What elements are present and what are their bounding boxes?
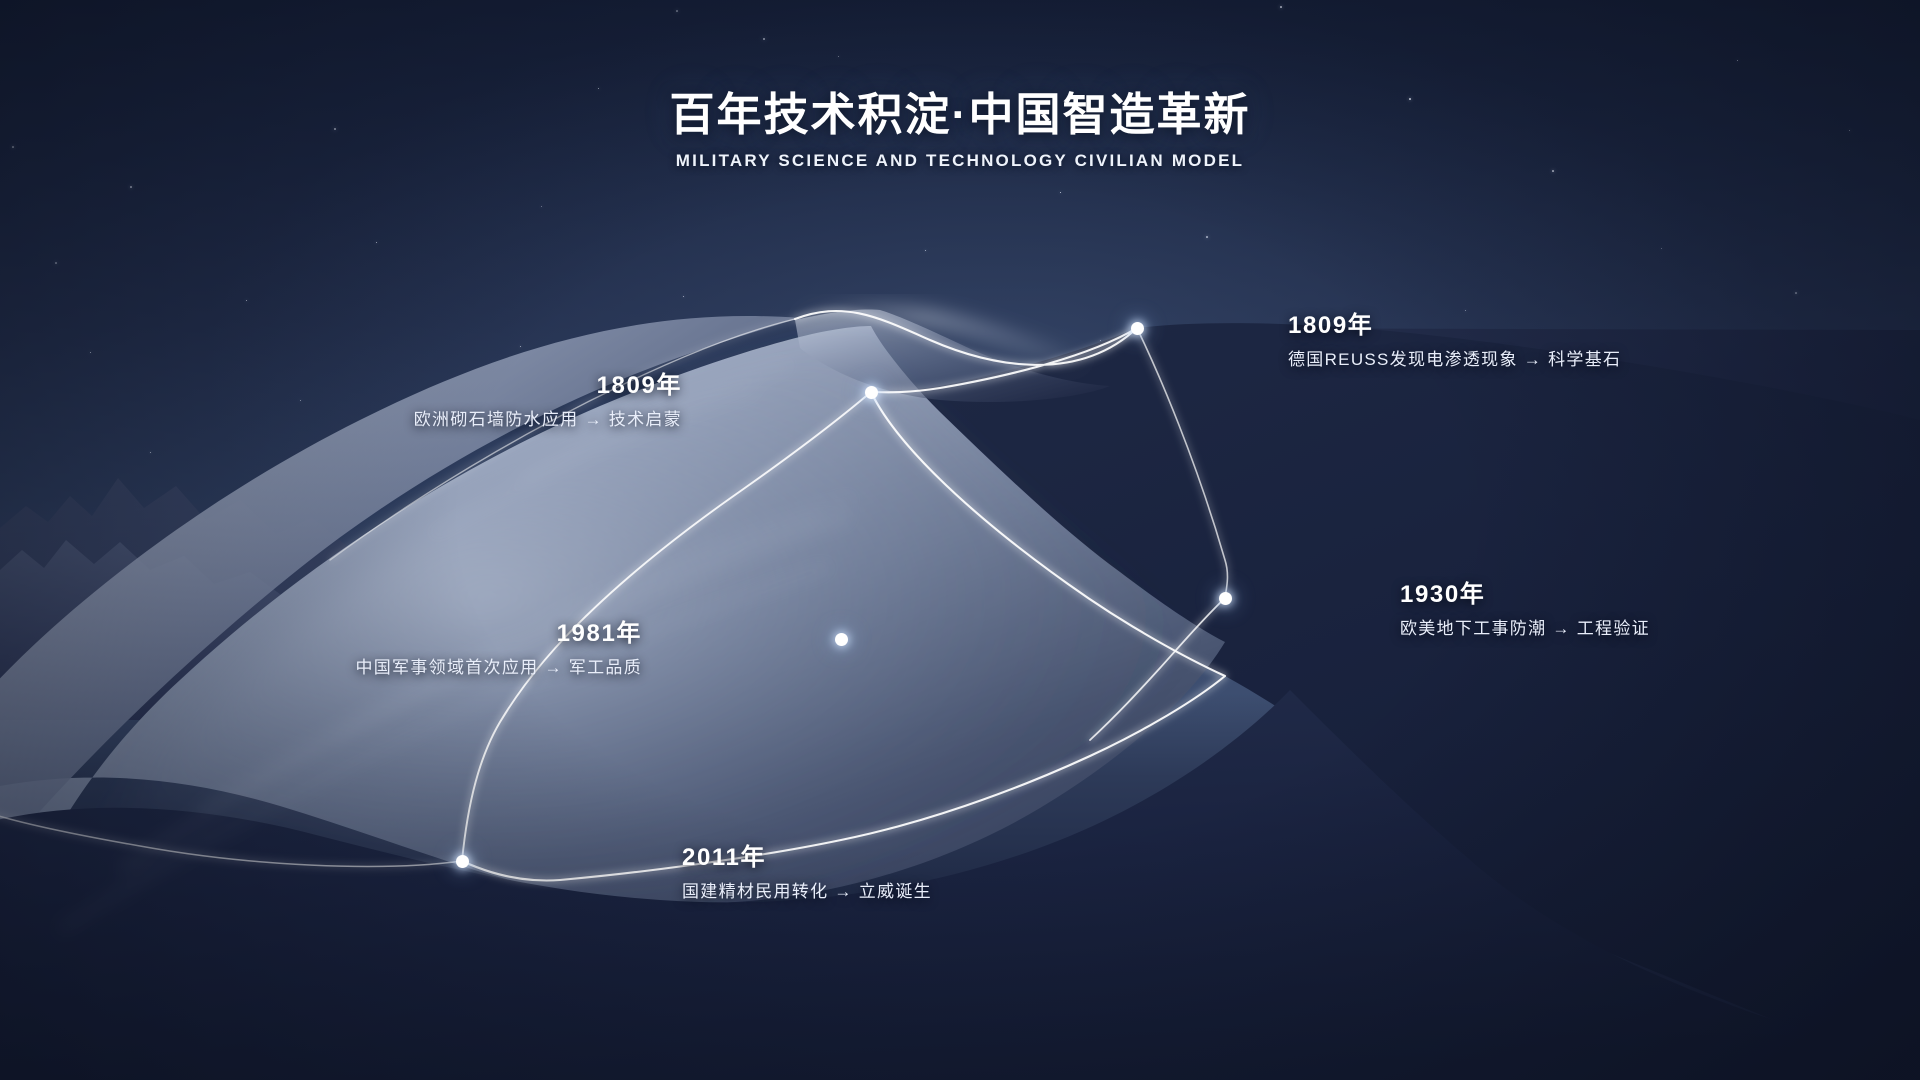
annotation-year: 1809年	[1288, 311, 1621, 340]
timeline-annotation-p-2011[interactable]: 2011年国建精材民用转化 → 立威诞生	[682, 843, 932, 903]
annotation-year: 1809年	[0, 371, 682, 400]
annotation-description: 中国军事领域首次应用 → 军工品质	[0, 657, 642, 679]
vignette-overlay	[0, 0, 1920, 1080]
annotation-year: 1930年	[1400, 580, 1650, 609]
annotation-year: 1981年	[0, 619, 642, 648]
timeline-annotation-p-1809-europe[interactable]: 1809年欧洲砌石墙防水应用 → 技术启蒙	[0, 371, 682, 431]
annotation-description: 欧美地下工事防潮 → 工程验证	[1400, 618, 1650, 640]
annotation-description: 欧洲砌石墙防水应用 → 技术启蒙	[0, 409, 682, 431]
timeline-node-p-2011[interactable]	[456, 855, 469, 868]
timeline-annotation-p-1930[interactable]: 1930年欧美地下工事防潮 → 工程验证	[1400, 580, 1650, 640]
timeline-node-p-1930[interactable]	[1219, 592, 1232, 605]
annotation-description: 德国REUSS发现电渗透现象 → 科学基石	[1288, 349, 1621, 371]
timeline-node-p-1809-europe[interactable]	[865, 386, 878, 399]
timeline-annotation-p-1981[interactable]: 1981年中国军事领域首次应用 → 军工品质	[0, 619, 642, 679]
annotation-description: 国建精材民用转化 → 立威诞生	[682, 881, 932, 903]
timeline-node-p-1981[interactable]	[835, 633, 848, 646]
annotation-year: 2011年	[682, 843, 932, 872]
poster-canvas: 百年技术积淀·中国智造革新 MILITARY SCIENCE AND TECHN…	[0, 0, 1920, 1080]
timeline-node-p-1809-reuss[interactable]	[1131, 322, 1144, 335]
timeline-annotation-p-1809-reuss[interactable]: 1809年德国REUSS发现电渗透现象 → 科学基石	[1288, 311, 1621, 371]
